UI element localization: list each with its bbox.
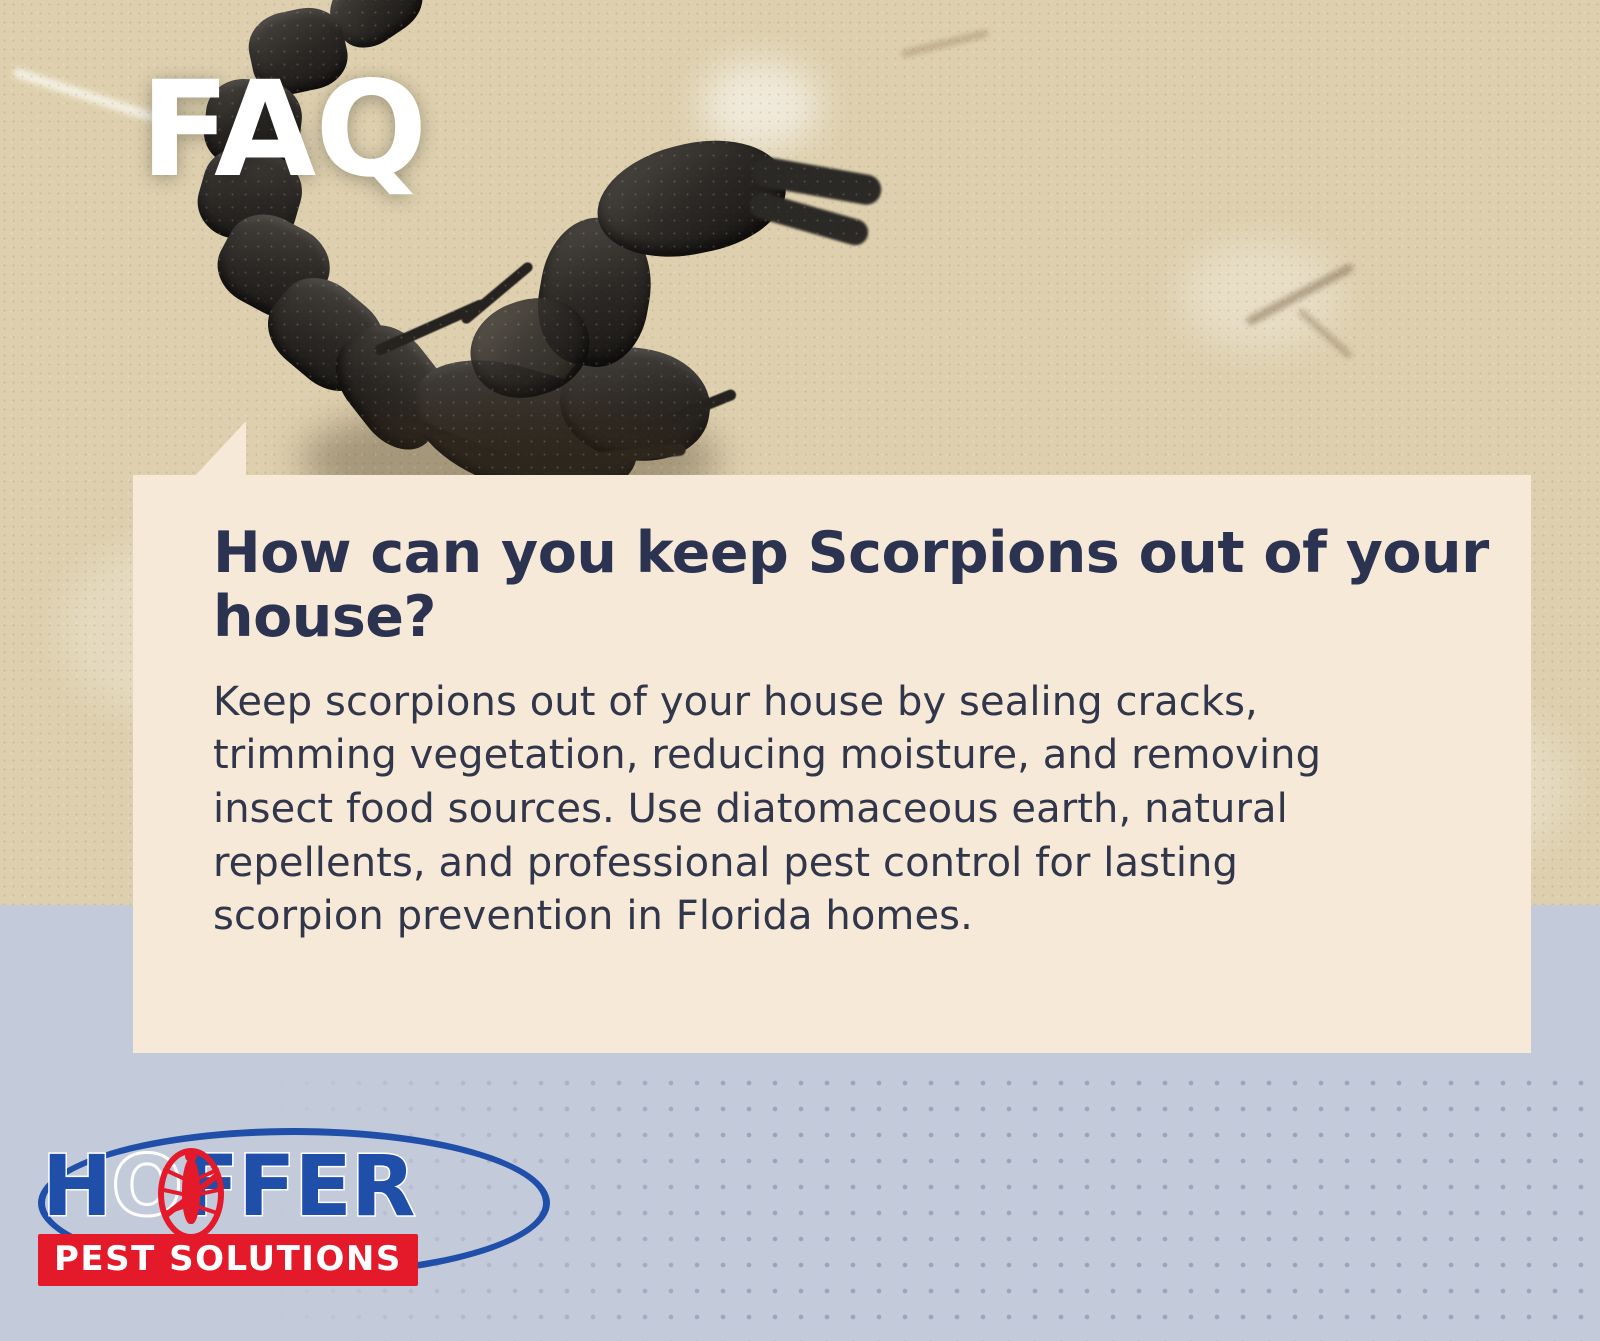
faq-card: How can you keep Scorpions out of your h…: [133, 475, 1531, 1053]
faq-answer: Keep scorpions out of your house by seal…: [213, 676, 1333, 944]
faq-social-card: FAQ How can you keep Scorpions out of yo…: [0, 0, 1600, 1341]
card-notch: [194, 421, 246, 477]
logo-tagline: PEST SOLUTIONS: [54, 1242, 402, 1276]
faq-question: How can you keep Scorpions out of your h…: [213, 521, 1491, 650]
hoffer-pest-solutions-logo[interactable]: HOFFER PEST SOLUTIONS: [30, 1116, 550, 1306]
logo-wordmark: HOFFER: [42, 1144, 415, 1228]
faq-card-content: How can you keep Scorpions out of your h…: [213, 521, 1491, 944]
logo-letter-h: H: [42, 1137, 111, 1235]
faq-label: FAQ: [140, 64, 426, 196]
